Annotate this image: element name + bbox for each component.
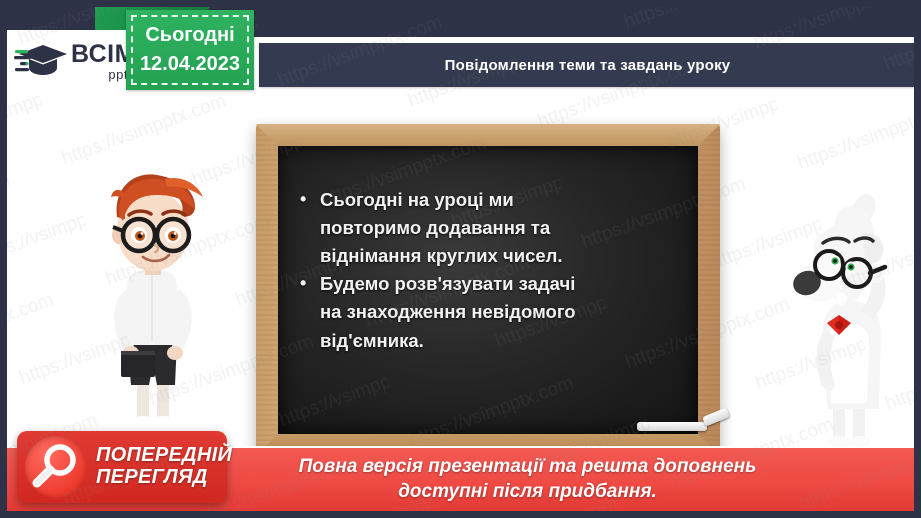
page-title: Повідомлення теми та завдань уроку xyxy=(445,57,731,74)
bullet-line: повторимо додавання та xyxy=(300,214,706,242)
bullet-line: від'ємника. xyxy=(300,327,706,355)
cartoon-dog-character xyxy=(789,189,921,457)
blackboard: • Сьогодні на уроці ми повторимо додаван… xyxy=(256,124,720,456)
header-title-bar: Повідомлення теми та завдань уроку xyxy=(259,43,916,87)
chalk-piece xyxy=(637,422,707,431)
preview-badge[interactable]: ПОПЕРЕДНІЙ ПЕРЕГЛЯД xyxy=(17,431,227,503)
bullet-line: Сьогодні на уроці ми xyxy=(320,189,514,210)
date-badge-label: Сьогодні xyxy=(145,21,234,50)
bullet-marker: • xyxy=(300,186,320,214)
magnifier-icon xyxy=(25,436,87,498)
date-badge-date: 12.04.2023 xyxy=(140,50,240,79)
bullet-line: Будемо розв'язувати задачі xyxy=(320,273,575,294)
list-item: • Будемо розв'язувати задачі xyxy=(300,270,706,298)
list-item: • Сьогодні на уроці ми xyxy=(300,186,706,214)
preview-line-2: ПЕРЕГЛЯД xyxy=(96,467,232,489)
footer-line-1: Повна версія презентації та решта доповн… xyxy=(299,455,757,479)
bullet-marker: • xyxy=(300,270,320,298)
bullet-line: віднімання круглих чисел. xyxy=(300,242,706,270)
graduation-cap-icon xyxy=(13,41,69,81)
blackboard-content: • Сьогодні на уроці ми повторимо додаван… xyxy=(300,186,706,355)
date-badge: Сьогодні 12.04.2023 xyxy=(126,10,254,90)
preview-badge-text: ПОПЕРЕДНІЙ ПЕРЕГЛЯД xyxy=(96,445,232,488)
slide-root: ВСІМ pptx Сьогодні 12.04.2023 Повідомлен… xyxy=(0,0,921,518)
footer-line-2: доступні після придбання. xyxy=(299,480,757,504)
bullet-line: на знаходження невідомого xyxy=(300,298,706,326)
cartoon-boy-character xyxy=(69,165,234,427)
footer-text: Повна версія презентації та решта доповн… xyxy=(299,455,757,504)
preview-line-1: ПОПЕРЕДНІЙ xyxy=(96,445,232,467)
